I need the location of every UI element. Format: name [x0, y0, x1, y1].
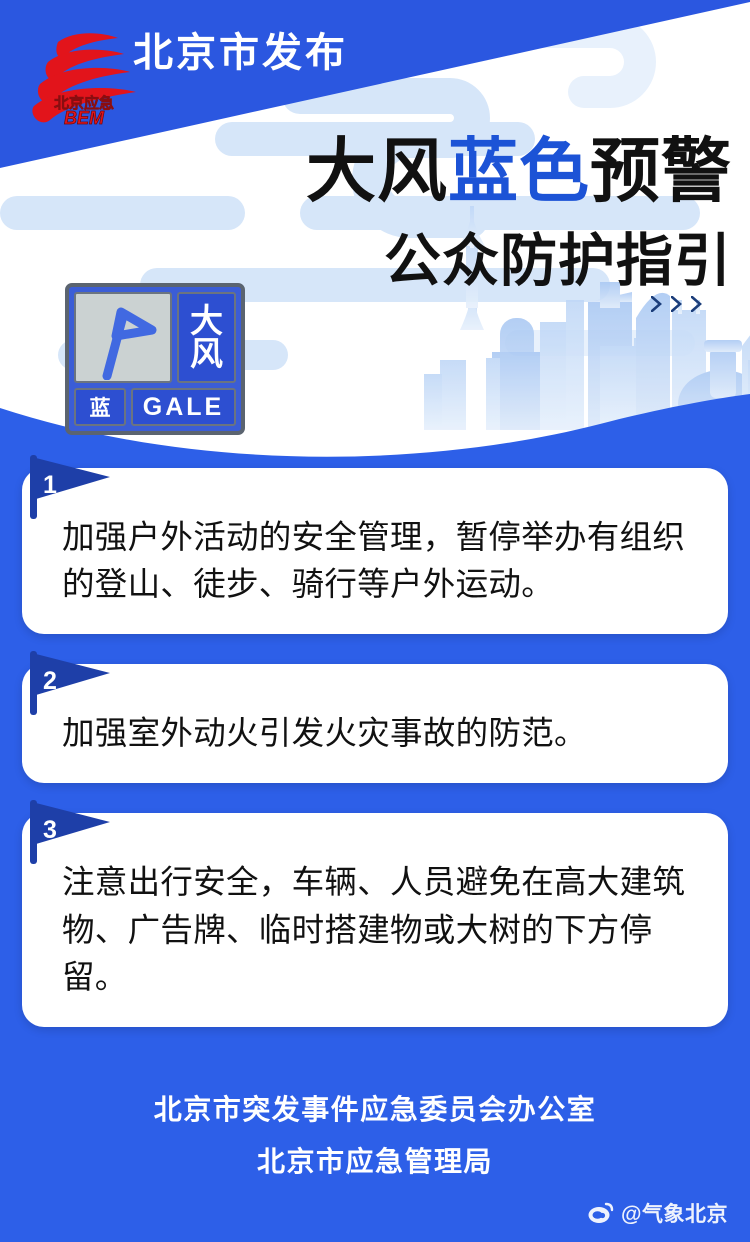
page-title: 大风蓝色预警 — [306, 136, 732, 206]
weibo-watermark: @气象北京 — [588, 1198, 728, 1228]
warning-hazard-cn: 大 风 — [177, 292, 236, 383]
chevron-group — [651, 296, 702, 312]
advice-card-list: 1 加强户外活动的安全管理，暂停举办有组织的登山、徒步、骑行等户外运动。 2 加… — [0, 468, 750, 1057]
page-subtitle: 公众防护指引 — [384, 233, 732, 290]
advice-card-number: 1 — [43, 473, 57, 498]
advice-card: 1 加强户外活动的安全管理，暂停举办有组织的登山、徒步、骑行等户外运动。 — [22, 468, 728, 634]
warning-hazard-en: GALE — [131, 388, 236, 426]
publisher-title: 北京市发布 — [133, 33, 348, 73]
title-accent: 蓝色 — [448, 132, 590, 210]
poster-root: 北京应急 BEM 北京市发布 大风蓝色预警 公众防护指引 — [0, 0, 750, 1242]
gale-blue-warning-sign: 大 风 蓝 GALE — [65, 283, 245, 435]
svg-text:BEM: BEM — [64, 108, 105, 128]
footer-organization-1: 北京市突发事件应急委员会办公室 — [0, 1084, 750, 1136]
advice-card: 3 注意出行安全，车辆、人员避免在高大建筑物、广告牌、临时搭建物或大树的下方停留… — [22, 813, 728, 1026]
advice-card-text: 加强室外动火引发火灾事故的防范。 — [62, 710, 694, 757]
wind-flag-icon — [89, 296, 157, 380]
advice-card: 2 加强室外动火引发火灾事故的防范。 — [22, 664, 728, 783]
advice-card-text: 加强户外活动的安全管理，暂停举办有组织的登山、徒步、骑行等户外运动。 — [62, 514, 694, 608]
advice-card-text: 注意出行安全，车辆、人员避免在高大建筑物、广告牌、临时搭建物或大树的下方停留。 — [62, 859, 694, 1000]
chevron-right-icon — [691, 296, 702, 312]
footer: 北京市突发事件应急委员会办公室 北京市应急管理局 — [0, 1084, 750, 1188]
advice-card-number: 3 — [43, 818, 57, 843]
warning-sign-top-row: 大 风 — [74, 292, 236, 383]
chevron-right-icon — [671, 296, 682, 312]
title-prefix: 大风 — [306, 132, 448, 210]
beijing-emergency-management-logo: 北京应急 BEM — [22, 22, 142, 130]
warning-sign-bottom-row: 蓝 GALE — [74, 388, 236, 426]
weibo-icon — [588, 1202, 614, 1224]
logo-graphic: 北京应急 BEM — [22, 22, 142, 130]
weibo-handle: @气象北京 — [621, 1198, 728, 1228]
advice-card-number: 2 — [43, 669, 57, 694]
hazard-cn-char-2: 风 — [190, 338, 223, 371]
warning-flag-panel — [74, 292, 172, 383]
chevron-right-icon — [651, 296, 662, 312]
footer-organization-2: 北京市应急管理局 — [0, 1136, 750, 1188]
hazard-cn-char-1: 大 — [190, 305, 223, 338]
title-suffix: 预警 — [590, 132, 732, 210]
warning-level-cn: 蓝 — [74, 388, 126, 426]
